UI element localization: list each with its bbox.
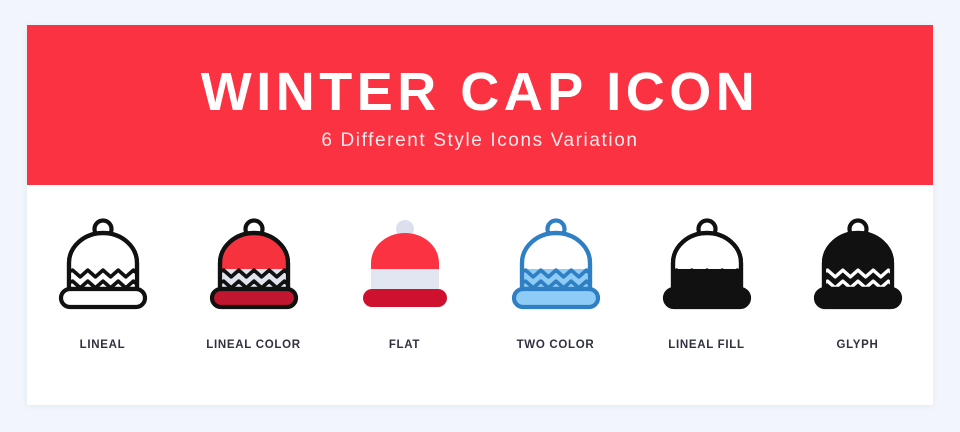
icon-cell-lineal-fill[interactable]: LINEAL FILL	[637, 211, 777, 351]
cap-brim	[816, 289, 900, 307]
cap-band-group	[518, 269, 594, 289]
poster-header: WINTER CAP ICON 6 Different Style Icons …	[27, 25, 933, 185]
icon-style-label: FLAT	[389, 339, 420, 351]
icon-style-label: LINEAL	[80, 339, 126, 351]
cap-band	[371, 269, 439, 289]
icon-style-label: LINEAL COLOR	[206, 339, 300, 351]
icon-cell-flat[interactable]: FLAT	[335, 211, 475, 351]
cap-brim	[514, 289, 598, 307]
icon-style-label: GLYPH	[836, 339, 878, 351]
icon-set-card: WINTER CAP ICON 6 Different Style Icons …	[27, 25, 933, 405]
page-title: WINTER CAP ICON	[201, 64, 760, 121]
cap-brim	[363, 289, 447, 307]
winter-cap-icon	[502, 211, 610, 323]
cap-band-group	[65, 269, 141, 289]
cap-band-group	[371, 269, 439, 289]
cap-band-group	[820, 269, 896, 289]
icon-cell-lineal-color[interactable]: LINEAL COLOR	[184, 211, 324, 351]
winter-cap-icon	[804, 211, 912, 323]
icon-style-label: TWO COLOR	[517, 339, 595, 351]
cap-band-group	[216, 269, 292, 289]
winter-cap-icon	[351, 211, 459, 323]
icons-area: LINEALLINEAL COLORFLATTWO COLORLINEAL FI…	[27, 185, 933, 405]
icon-cell-glyph[interactable]: GLYPH	[788, 211, 928, 351]
poster-page: WINTER CAP ICON 6 Different Style Icons …	[0, 0, 960, 432]
icon-style-label: LINEAL FILL	[668, 339, 744, 351]
icon-cell-two-color[interactable]: TWO COLOR	[486, 211, 626, 351]
icon-cell-lineal[interactable]: LINEAL	[33, 211, 173, 351]
cap-band-group	[669, 269, 745, 289]
winter-cap-icon	[49, 211, 157, 323]
winter-cap-icon	[200, 211, 308, 323]
winter-cap-icon	[653, 211, 761, 323]
page-subtitle: 6 Different Style Icons Variation	[321, 130, 638, 152]
cap-brim	[61, 289, 145, 307]
cap-brim	[212, 289, 296, 307]
cap-brim	[665, 289, 749, 307]
icons-row: LINEALLINEAL COLORFLATTWO COLORLINEAL FI…	[27, 185, 933, 405]
